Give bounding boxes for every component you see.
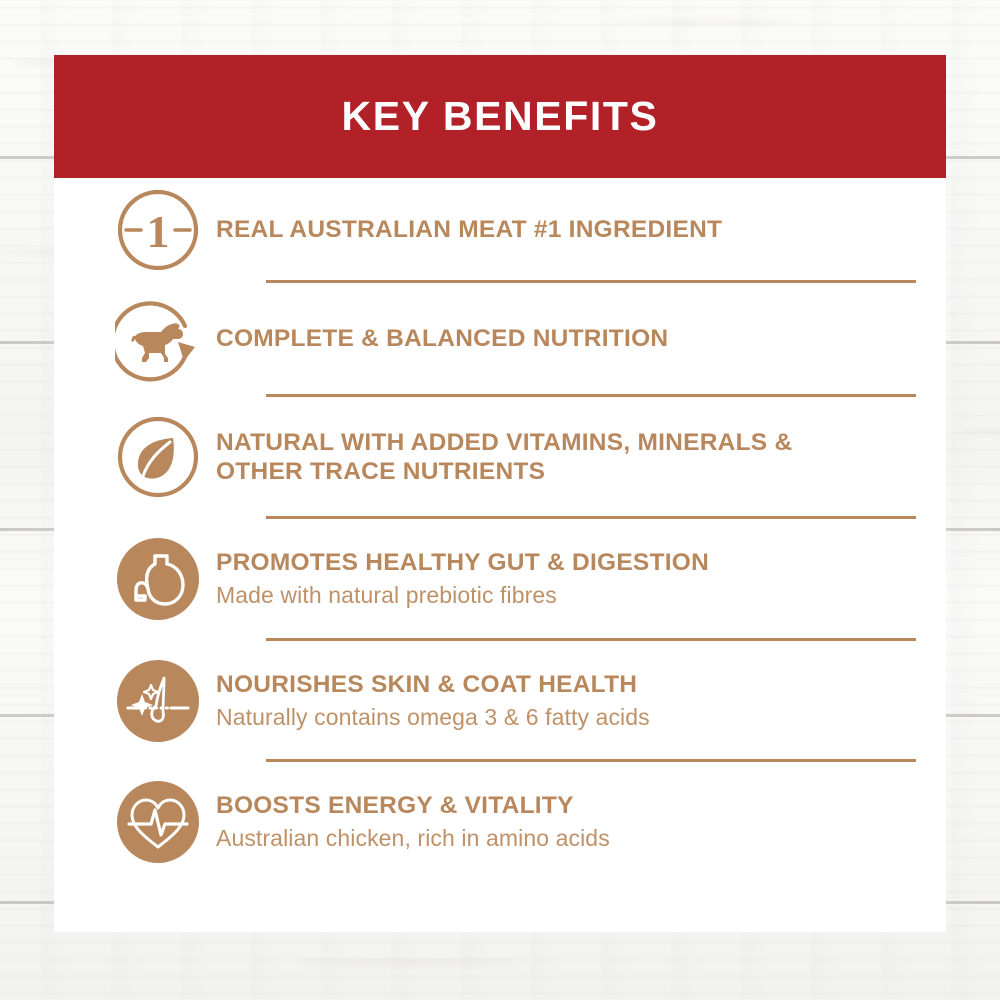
benefit-icon-cell (106, 536, 210, 622)
benefit-icon-cell: 1 (106, 187, 210, 273)
benefits-list: 1 REAL AUSTRALIAN MEAT #1 INGREDIENT (54, 178, 946, 882)
benefit-text-cell: REAL AUSTRALIAN MEAT #1 INGREDIENT (210, 215, 946, 244)
wood-grain (300, 960, 520, 965)
benefit-title: NOURISHES SKIN & COAT HEALTH (216, 670, 946, 699)
benefit-subtitle: Naturally contains omega 3 & 6 fatty aci… (216, 703, 946, 732)
benefit-title: REAL AUSTRALIAN MEAT #1 INGREDIENT (216, 215, 946, 244)
benefit-subtitle: Australian chicken, rich in amino acids (216, 824, 946, 853)
header-banner: KEY BENEFITS (54, 55, 946, 178)
svg-text:1: 1 (147, 206, 170, 257)
benefit-title: BOOSTS ENERGY & VITALITY (216, 791, 946, 820)
hair-follicle-sparkle-icon (115, 658, 201, 744)
benefit-text-cell: COMPLETE & BALANCED NUTRITION (210, 324, 946, 353)
number-one-icon: 1 (115, 187, 201, 273)
benefit-text-cell: NOURISHES SKIN & COAT HEALTH Naturally c… (210, 670, 946, 732)
benefit-title: PROMOTES HEALTHY GUT & DIGESTION (216, 548, 946, 577)
benefit-row[interactable]: COMPLETE & BALANCED NUTRITION (54, 282, 946, 396)
benefit-icon-cell (106, 779, 210, 865)
stomach-icon (115, 536, 201, 622)
benefit-row[interactable]: PROMOTES HEALTHY GUT & DIGESTION Made wi… (54, 518, 946, 640)
benefit-icon-cell (106, 658, 210, 744)
benefit-row[interactable]: NOURISHES SKIN & COAT HEALTH Naturally c… (54, 640, 946, 761)
benefit-row[interactable]: BOOSTS ENERGY & VITALITY Australian chic… (54, 761, 946, 882)
key-benefits-infographic: KEY BENEFITS 1 REAL AUSTR (0, 0, 1000, 1000)
benefit-row[interactable]: NATURAL WITH ADDED VITAMINS, MINERALS & … (54, 396, 946, 518)
leaf-icon (115, 414, 201, 500)
benefits-card: KEY BENEFITS 1 REAL AUSTR (54, 55, 946, 932)
wood-grain (960, 430, 1000, 434)
page-title: KEY BENEFITS (342, 96, 659, 137)
benefit-text-cell: PROMOTES HEALTHY GUT & DIGESTION Made wi… (210, 548, 946, 610)
benefit-text-cell: BOOSTS ENERGY & VITALITY Australian chic… (210, 791, 946, 853)
benefit-icon-cell (106, 414, 210, 500)
benefit-text-cell: NATURAL WITH ADDED VITAMINS, MINERALS & … (210, 428, 946, 486)
benefit-title: COMPLETE & BALANCED NUTRITION (216, 324, 946, 353)
wood-grain (620, 20, 800, 24)
benefit-title: NATURAL WITH ADDED VITAMINS, MINERALS & … (216, 428, 816, 486)
benefit-row[interactable]: 1 REAL AUSTRALIAN MEAT #1 INGREDIENT (54, 178, 946, 282)
benefit-subtitle: Made with natural prebiotic fibres (216, 581, 946, 610)
dog-circular-arrow-icon (115, 296, 201, 382)
benefit-icon-cell (106, 296, 210, 382)
heart-pulse-icon (115, 779, 201, 865)
